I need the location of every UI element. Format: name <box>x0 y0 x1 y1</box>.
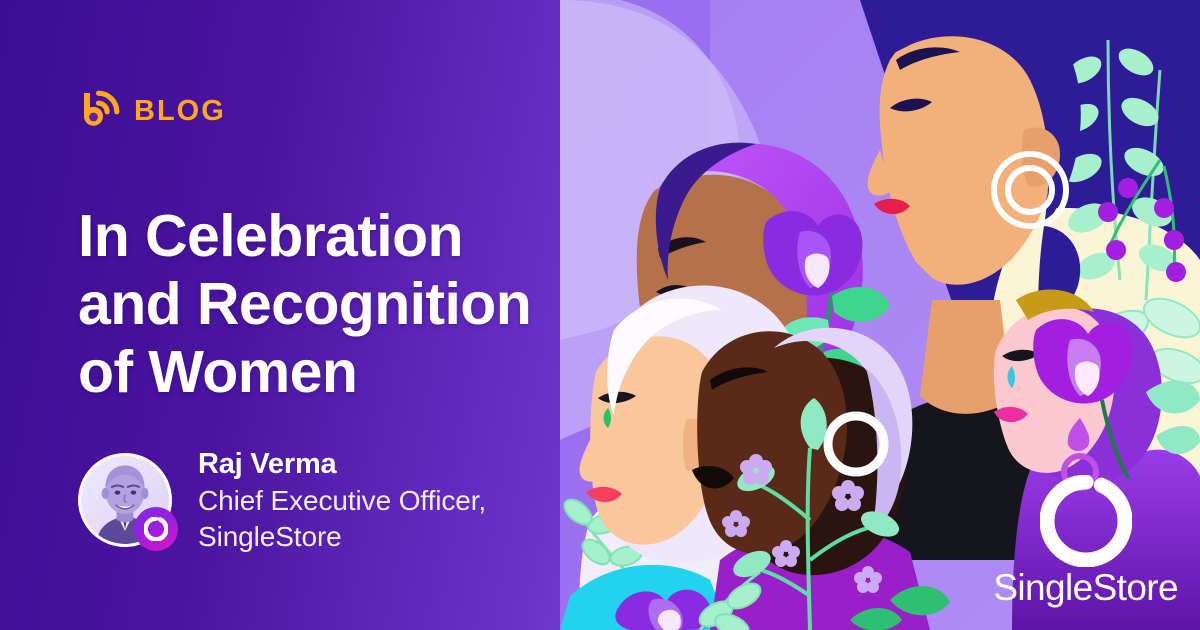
brand-logo: SingleStore <box>993 475 1178 606</box>
card-content: BLOG In Celebration and Recognition of W… <box>78 0 638 630</box>
singlestore-ring-logo-icon <box>1040 475 1132 567</box>
singlestore-ring-icon <box>134 507 178 551</box>
author-title: Chief Executive Officer, SingleStore <box>198 483 486 555</box>
page-title: In Celebration and Recognition of Women <box>78 202 638 407</box>
avatar <box>78 453 172 547</box>
blog-rss-b-icon <box>78 90 120 132</box>
brand-name: SingleStore <box>993 569 1178 606</box>
blog-social-card: BLOG In Celebration and Recognition of W… <box>0 0 1200 630</box>
author-name: Raj Verma <box>198 446 486 483</box>
blog-eyebrow: BLOG <box>78 90 226 132</box>
author-text: Raj Verma Chief Executive Officer, Singl… <box>198 446 486 555</box>
blog-label: BLOG <box>134 97 226 126</box>
author-byline: Raj Verma Chief Executive Officer, Singl… <box>78 446 486 555</box>
